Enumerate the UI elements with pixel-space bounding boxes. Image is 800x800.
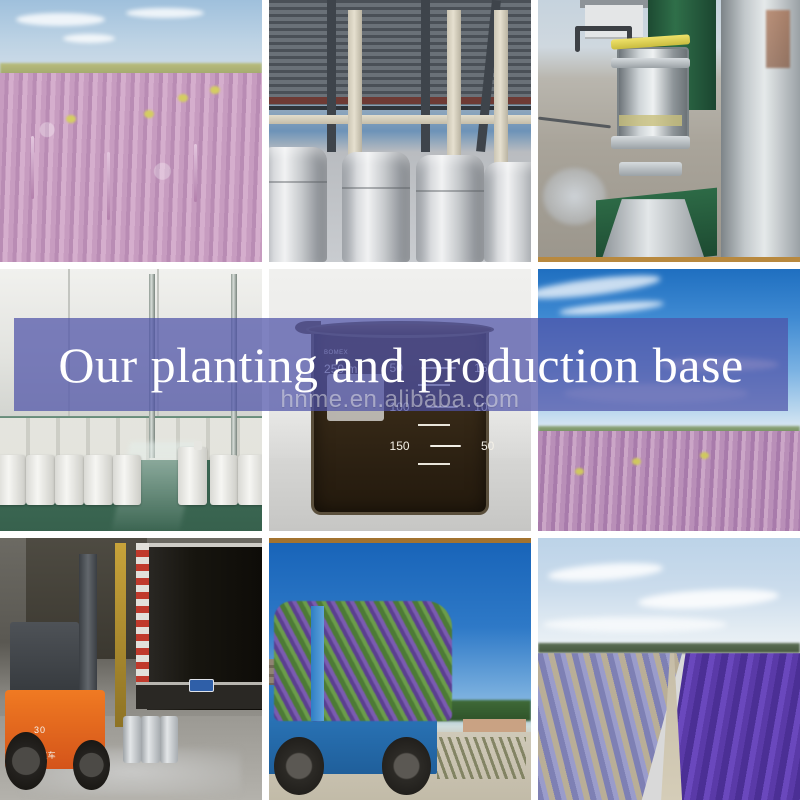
forklift-model-label: 30: [34, 725, 46, 735]
steel-tank: [342, 152, 410, 262]
jerrycan: [0, 455, 26, 505]
jerrycan: [26, 455, 55, 505]
pipe: [575, 26, 580, 52]
yellow-flower: [632, 458, 641, 465]
collage-cell-clary-sage-field[interactable]: [0, 0, 262, 262]
background-building: [463, 719, 526, 732]
far-treeline: [538, 643, 800, 653]
lavender-rows-photo: [538, 538, 800, 800]
forklift-loading-photo: 30 合力叉车: [0, 538, 262, 800]
image-collage: BOMEX 250 ml 50 150 100 100 150: [0, 0, 800, 800]
jerrycan-cap: [194, 441, 202, 449]
roof-beam: [269, 106, 531, 110]
support-column: [421, 0, 430, 152]
harvested-lavender-load: [274, 601, 452, 722]
jerrycan: [84, 455, 113, 505]
steel-drum: [123, 716, 141, 763]
distillation-tanks-photo: [269, 0, 531, 262]
lavender-field: [538, 653, 800, 800]
graduation-left-value: 150: [390, 439, 410, 453]
steel-tank: [269, 147, 327, 262]
yellow-flower: [66, 115, 76, 123]
headline-text: Our planting and production base: [58, 340, 743, 390]
separator-valve-photo: [538, 0, 800, 262]
collage-cell-distillation-tanks[interactable]: [269, 0, 531, 262]
clamp: [619, 162, 682, 175]
pale-lavender-rows: [538, 653, 682, 800]
steel-tank: [484, 162, 531, 262]
deep-lavender-rows: [664, 653, 800, 800]
cloud-icon: [543, 617, 726, 633]
graduation-row: 150 50: [390, 439, 495, 453]
background-building: [585, 5, 643, 38]
lavender-crop: [538, 431, 800, 531]
scattered-clippings: [437, 737, 526, 779]
steel-drum: [141, 716, 159, 763]
jerrycan: [55, 455, 84, 505]
pipe: [575, 26, 633, 31]
jerrycan: [210, 455, 239, 505]
forklift-wheel: [73, 740, 110, 790]
graduation-right-value: 50: [481, 439, 494, 453]
collage-cell-forklift-loading[interactable]: 30 合力叉车: [0, 538, 262, 800]
collage-cell-harvest-trailer[interactable]: [269, 538, 531, 800]
bottom-strip: [538, 257, 800, 262]
clary-sage-field-photo: [0, 0, 262, 262]
harvest-trailer-photo: [269, 538, 531, 800]
watermark-text: hnme.en.alibaba.com: [0, 386, 800, 414]
graduation-minor-tick: [418, 463, 449, 465]
trailer-wheel: [382, 737, 432, 795]
flower-field: [0, 73, 262, 262]
rust-stain: [766, 10, 790, 68]
collage-cell-separator-valve[interactable]: [538, 0, 800, 262]
flange: [611, 58, 690, 68]
trailer-wheel: [274, 737, 324, 795]
jerrycan: [113, 455, 142, 505]
steel-tank: [416, 155, 484, 262]
oil-layer: [619, 115, 682, 125]
graduation-tick: [430, 445, 461, 447]
support-column: [327, 0, 336, 152]
horizontal-rail: [269, 115, 531, 124]
steel-drum: [160, 716, 178, 763]
yellow-flower: [575, 468, 584, 475]
jerrycan: [178, 447, 207, 505]
forklift-wheel: [5, 732, 47, 790]
flower-sprig: [107, 152, 110, 220]
flower-sprig: [194, 144, 197, 202]
collage-cell-lavender-rows[interactable]: [538, 538, 800, 800]
top-border-line: [269, 538, 531, 543]
graduation-minor-tick: [418, 424, 449, 426]
flower-sprig: [31, 136, 34, 199]
jerrycan: [238, 455, 262, 505]
yellow-pillar: [115, 543, 125, 726]
hose: [538, 116, 611, 128]
roof-beam: [269, 97, 531, 104]
trailer-strap: [311, 606, 324, 721]
forklift-cab: [10, 622, 78, 701]
license-plate: [189, 679, 215, 691]
flange: [611, 136, 690, 149]
